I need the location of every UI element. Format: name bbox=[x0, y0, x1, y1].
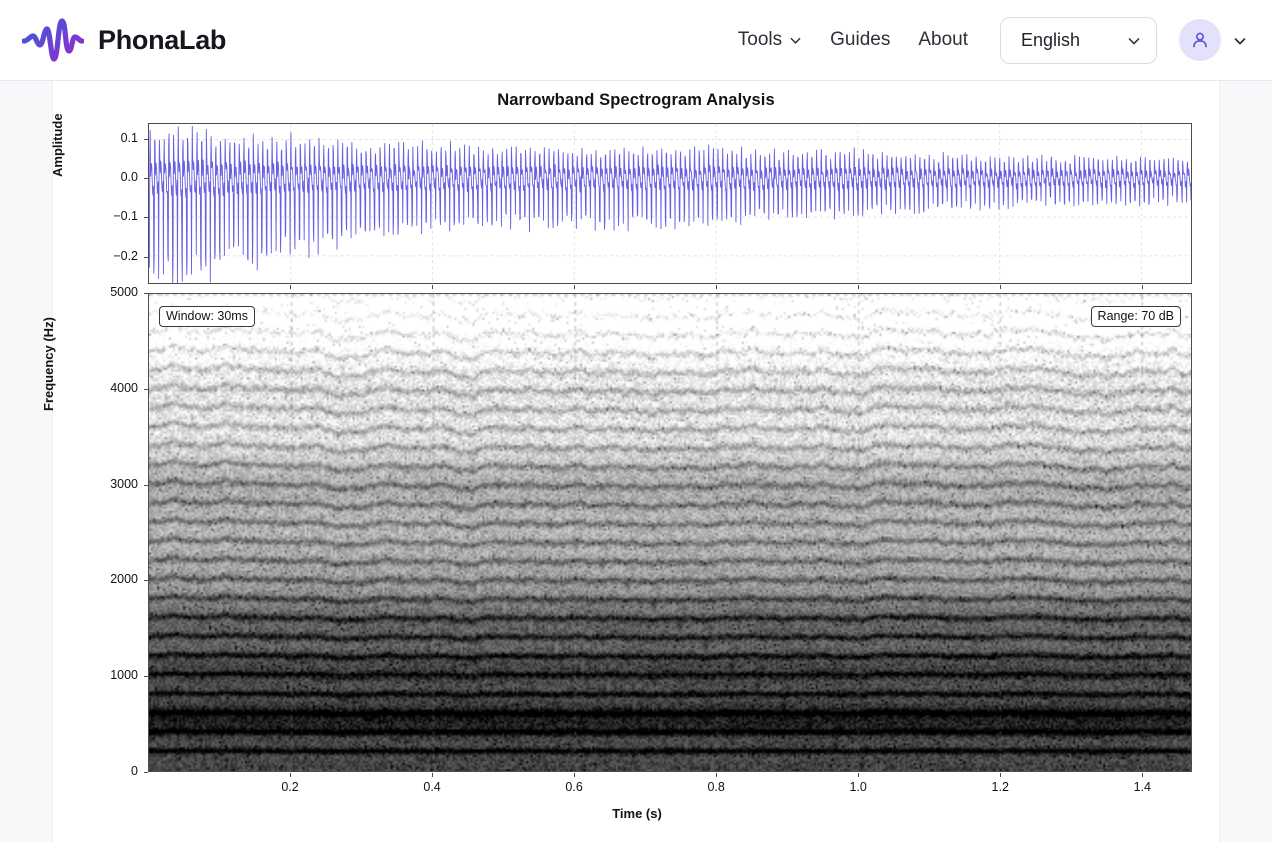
chevron-down-icon bbox=[789, 34, 802, 47]
axis-tick-mark bbox=[290, 285, 291, 289]
spectrogram-x-axis-label: Time (s) bbox=[53, 806, 1221, 821]
spectrogram-image bbox=[149, 294, 1191, 771]
site-header: PhonaLab Tools Guides About English bbox=[0, 0, 1272, 81]
axis-tick-label: 1000 bbox=[110, 668, 138, 682]
axis-tick-label: 5000 bbox=[110, 285, 138, 299]
axis-tick-mark bbox=[716, 285, 717, 289]
waveform-plot bbox=[148, 123, 1192, 284]
axis-tick-label: 2000 bbox=[110, 572, 138, 586]
axis-tick-mark bbox=[574, 285, 575, 289]
axis-tick-mark bbox=[290, 773, 291, 777]
nav-item-guides[interactable]: Guides bbox=[816, 21, 904, 59]
brand-logo[interactable]: PhonaLab bbox=[22, 17, 226, 63]
waveform-trace bbox=[149, 124, 1191, 283]
axis-tick-mark bbox=[144, 772, 148, 773]
axis-tick-label: 1.4 bbox=[1129, 780, 1155, 794]
axis-tick-label: 0.8 bbox=[703, 780, 729, 794]
axis-tick-label: −0.1 bbox=[113, 209, 138, 223]
main-navigation: Tools Guides About English bbox=[724, 17, 1246, 64]
nav-item-label: About bbox=[918, 29, 968, 51]
axis-tick-label: 0.1 bbox=[121, 131, 138, 145]
axis-tick-label: 0.2 bbox=[277, 780, 303, 794]
axis-tick-label: 0.6 bbox=[561, 780, 587, 794]
chevron-down-icon bbox=[1127, 34, 1140, 47]
nav-item-tools[interactable]: Tools bbox=[724, 21, 816, 59]
nav-item-label: Guides bbox=[830, 29, 890, 51]
axis-tick-label: 3000 bbox=[110, 477, 138, 491]
figure-title: Narrowband Spectrogram Analysis bbox=[53, 91, 1219, 110]
chevron-down-icon bbox=[1233, 34, 1246, 47]
language-select[interactable]: English bbox=[1000, 17, 1157, 64]
axis-tick-label: 0.4 bbox=[419, 780, 445, 794]
axis-tick-mark bbox=[432, 773, 433, 777]
axis-tick-label: 1.2 bbox=[987, 780, 1013, 794]
axis-tick-label: −0.2 bbox=[113, 249, 138, 263]
account-menu[interactable] bbox=[1179, 19, 1246, 61]
avatar bbox=[1179, 19, 1221, 61]
axis-tick-label: 1.0 bbox=[845, 780, 871, 794]
axis-tick-mark bbox=[858, 285, 859, 289]
brand-name: PhonaLab bbox=[98, 25, 226, 56]
page-body: Narrowband Spectrogram Analysis Amplitud… bbox=[0, 81, 1272, 842]
waveform-logo-icon bbox=[22, 17, 84, 63]
window-annotation-badge: Window: 30ms bbox=[159, 306, 255, 327]
spectrogram-y-axis-label: Frequency (Hz) bbox=[41, 317, 56, 411]
axis-tick-mark bbox=[1000, 773, 1001, 777]
waveform-y-axis-label: Amplitude bbox=[50, 113, 65, 177]
nav-item-label: Tools bbox=[738, 29, 782, 51]
spectrogram-plot: Window: 30ms Range: 70 dB bbox=[148, 293, 1192, 772]
nav-item-about[interactable]: About bbox=[904, 21, 982, 59]
axis-tick-mark bbox=[432, 285, 433, 289]
axis-tick-mark bbox=[1000, 285, 1001, 289]
axis-tick-mark bbox=[1142, 773, 1143, 777]
axis-tick-label: 0.0 bbox=[121, 170, 138, 184]
axis-tick-label: 0 bbox=[131, 764, 138, 778]
axis-tick-mark bbox=[716, 773, 717, 777]
axis-tick-label: 4000 bbox=[110, 381, 138, 395]
figure-card: Narrowband Spectrogram Analysis Amplitud… bbox=[52, 81, 1220, 842]
range-annotation-badge: Range: 70 dB bbox=[1091, 306, 1181, 327]
axis-tick-mark bbox=[858, 773, 859, 777]
axis-tick-mark bbox=[1142, 285, 1143, 289]
axis-tick-mark bbox=[574, 773, 575, 777]
language-select-value: English bbox=[1021, 30, 1080, 51]
